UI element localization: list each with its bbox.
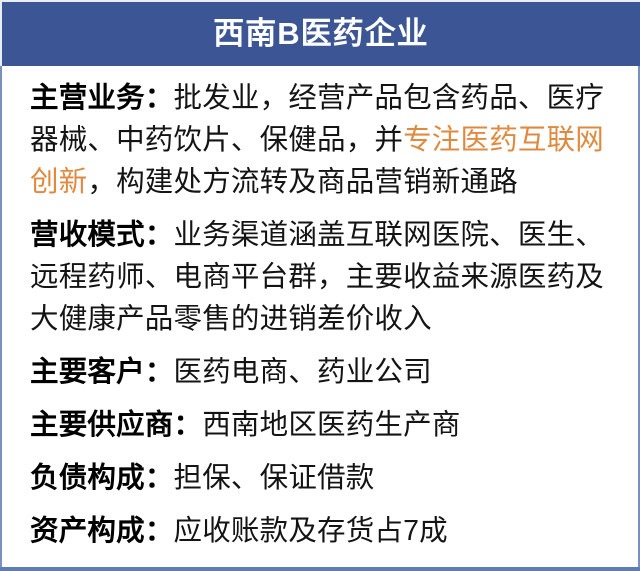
section-main-suppliers: 主要供应商：西南地区医药生产商	[30, 404, 618, 446]
section-text-after: ，构建处方流转及商品营销新通路	[87, 166, 518, 198]
section-label: 负债构成	[30, 462, 145, 494]
section-text: 应收账款及存货占7成	[174, 515, 448, 547]
company-profile-card: 西南B医药企业 主营业务：批发业，经营产品包含药品、医疗器械、中药饮片、保健品，…	[0, 0, 640, 571]
section-label: 主要客户	[30, 356, 145, 388]
section-separator: ：	[145, 515, 174, 547]
section-liability-structure: 负债构成：担保、保证借款	[30, 457, 618, 499]
section-separator: ：	[145, 82, 174, 114]
section-separator: ：	[145, 356, 174, 388]
section-text: 西南地区医药生产商	[202, 409, 460, 441]
section-revenue-model: 营收模式：业务渠道涵盖互联网医院、医生、远程药师、电商平台群，主要收益来源医药及…	[30, 214, 618, 340]
section-label: 营收模式	[30, 219, 145, 251]
section-text: 担保、保证借款	[174, 462, 375, 494]
section-separator: ：	[174, 409, 203, 441]
section-main-business: 主营业务：批发业，经营产品包含药品、医疗器械、中药饮片、保健品，并专注医药互联网…	[30, 77, 618, 203]
bottom-rule	[0, 567, 640, 571]
section-separator: ：	[145, 219, 174, 251]
card-header: 西南B医药企业	[0, 0, 640, 66]
section-label: 主要供应商	[30, 409, 174, 441]
section-text: 医药电商、药业公司	[174, 356, 432, 388]
card-body: 主营业务：批发业，经营产品包含药品、医疗器械、中药饮片、保健品，并专注医药互联网…	[0, 66, 640, 552]
section-separator: ：	[145, 462, 174, 494]
section-asset-structure: 资产构成：应收账款及存货占7成	[30, 510, 618, 552]
section-label: 主营业务	[30, 82, 145, 114]
page-title: 西南B医药企业	[213, 18, 428, 51]
section-main-customers: 主要客户：医药电商、药业公司	[30, 351, 618, 393]
section-label: 资产构成	[30, 515, 145, 547]
